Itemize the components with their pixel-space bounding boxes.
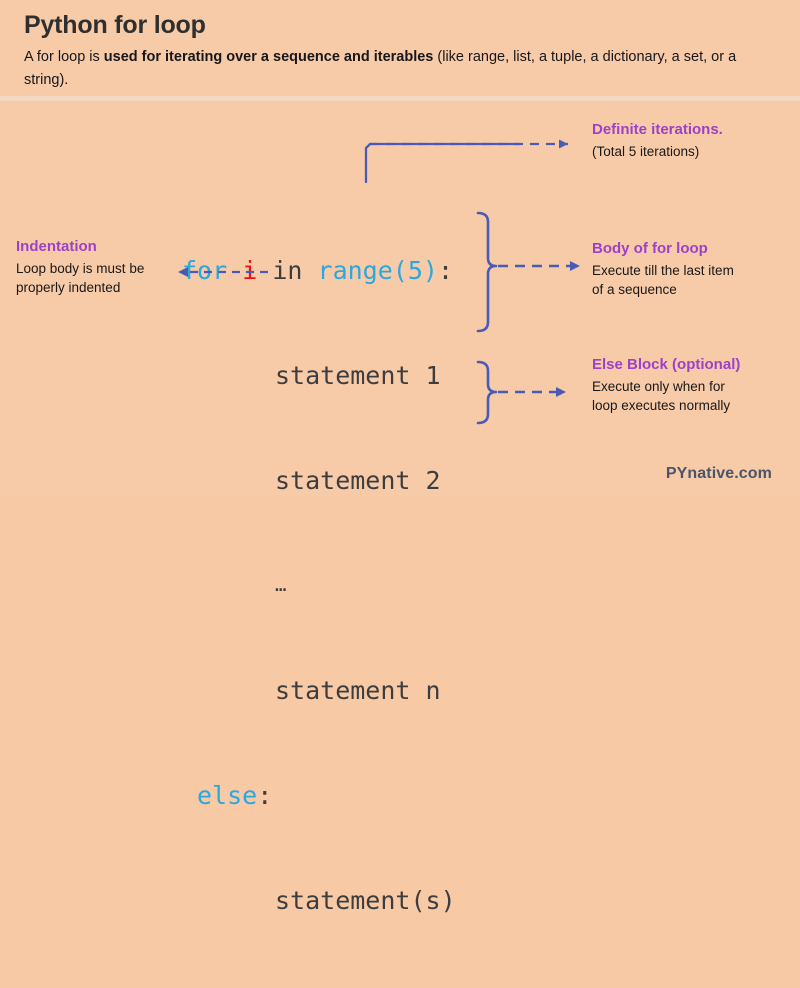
infographic-page: Python for loop A for loop is used for i…	[0, 0, 800, 497]
annotation-else-line-2: loop executes normally	[592, 396, 740, 415]
annotation-body-of-loop: Body of for loop Execute till the last i…	[592, 239, 734, 299]
colon-for: :	[438, 256, 453, 285]
code-line-else: else:	[182, 778, 456, 813]
code-line-statement-n: statement n	[182, 673, 456, 708]
annotation-indentation-line-2: properly indented	[16, 278, 144, 297]
code-line-statement-1: statement 1	[182, 358, 456, 393]
annotation-indentation-title: Indentation	[16, 237, 144, 257]
body-arrowhead	[570, 261, 580, 271]
subtitle-text-lead: A for loop is	[24, 49, 104, 65]
keyword-for: for	[182, 256, 227, 285]
code-space-1	[227, 256, 242, 285]
code-line-ellipsis: …	[182, 568, 456, 603]
header-divider	[0, 96, 800, 101]
code-line-for: for i in range(5):	[182, 253, 456, 288]
annotation-indentation-line-1: Loop body is must be	[16, 259, 144, 278]
code-line-statement-2: statement 2	[182, 463, 456, 498]
else-brace	[478, 362, 496, 423]
annotation-body-line-1: Execute till the last item	[592, 261, 734, 280]
annotation-body-title: Body of for loop	[592, 239, 734, 259]
brand-watermark: PYnative.com	[666, 465, 772, 483]
colon-else: :	[257, 781, 272, 810]
function-range: range(5)	[318, 256, 438, 285]
annotation-definite-title: Definite iterations.	[592, 120, 723, 140]
annotation-body-line-2: of a sequence	[592, 280, 734, 299]
annotation-else-title: Else Block (optional)	[592, 355, 740, 375]
annotation-else-block: Else Block (optional) Execute only when …	[592, 355, 740, 415]
body-brace	[478, 213, 496, 331]
keyword-else: else	[197, 781, 257, 810]
subtitle-text-bold: used for iterating over a sequence and i…	[104, 49, 434, 65]
page-title: Python for loop	[24, 8, 776, 42]
definite-connector-solid	[366, 144, 520, 182]
code-line-statement-s: statement(s)	[182, 883, 456, 918]
page-subtitle: A for loop is used for iterating over a …	[24, 46, 754, 92]
code-space-3	[302, 256, 317, 285]
annotation-else-line-1: Execute only when for	[592, 377, 740, 396]
code-space-2	[257, 256, 272, 285]
annotation-indentation: Indentation Loop body is must be properl…	[16, 237, 144, 297]
annotation-definite-body: (Total 5 iterations)	[592, 142, 723, 161]
loop-variable-i: i	[242, 256, 257, 285]
code-block: for i in range(5): statement 1 statement…	[182, 183, 456, 988]
header: Python for loop A for loop is used for i…	[0, 0, 800, 96]
keyword-in: in	[272, 256, 302, 285]
annotation-definite-iterations: Definite iterations. (Total 5 iterations…	[592, 120, 723, 161]
else-arrowhead	[556, 387, 566, 397]
definite-arrowhead	[559, 140, 568, 149]
